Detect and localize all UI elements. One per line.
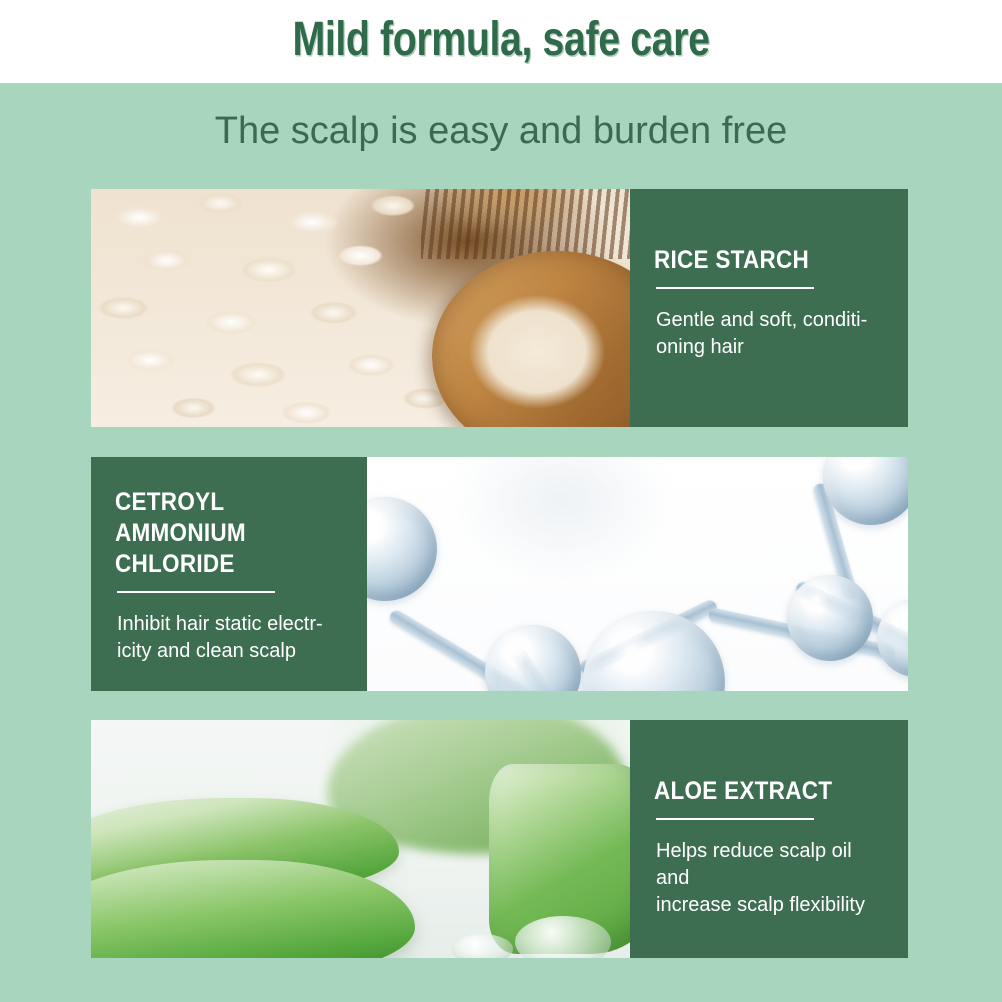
ingredient-title: CETROYL AMMONIUM CHLORIDE xyxy=(115,487,326,580)
ingredient-card-aloe-extract: ALOE EXTRACT Helps reduce scalp oil and … xyxy=(91,720,908,958)
header-band: Mild formula, safe care xyxy=(0,0,1002,83)
ingredient-card-rice-starch: RICE STARCH Gentle and soft, conditi- on… xyxy=(91,189,908,427)
molecule-atom xyxy=(787,575,873,661)
rice-starch-photo xyxy=(91,189,630,427)
aloe-gel-drop xyxy=(451,934,513,958)
title-divider-rule xyxy=(117,591,275,593)
rice-starch-panel: RICE STARCH Gentle and soft, conditi- on… xyxy=(630,189,908,427)
title-divider-rule xyxy=(656,287,814,289)
ingredient-description: Helps reduce scalp oil and increase scal… xyxy=(656,838,890,919)
ingredient-title: RICE STARCH xyxy=(654,245,866,276)
aloe-photo xyxy=(91,720,630,958)
ingredient-card-cetroyl-ammonium-chloride: CETROYL AMMONIUM CHLORIDE Inhibit hair s… xyxy=(91,457,908,691)
cetroyl-ammonium-chloride-panel: CETROYL AMMONIUM CHLORIDE Inhibit hair s… xyxy=(91,457,367,691)
molecule-atom xyxy=(367,497,437,601)
title-divider-rule xyxy=(656,818,814,820)
ingredient-description: Inhibit hair static electr- icity and cl… xyxy=(117,611,349,665)
page-subtitle: The scalp is easy and burden free xyxy=(0,108,1002,154)
molecule-atom xyxy=(583,611,725,691)
ingredient-title: ALOE EXTRACT xyxy=(654,776,866,807)
page-title: Mild formula, safe care xyxy=(90,12,912,68)
infographic-page: Mild formula, safe care The scalp is eas… xyxy=(0,0,1002,1002)
molecule-atom xyxy=(823,457,908,525)
molecule-atom xyxy=(877,599,908,677)
ingredient-description: Gentle and soft, conditi- oning hair xyxy=(656,307,890,361)
molecule-photo xyxy=(367,457,908,691)
aloe-extract-panel: ALOE EXTRACT Helps reduce scalp oil and … xyxy=(630,720,908,958)
molecule-atom xyxy=(485,625,581,691)
